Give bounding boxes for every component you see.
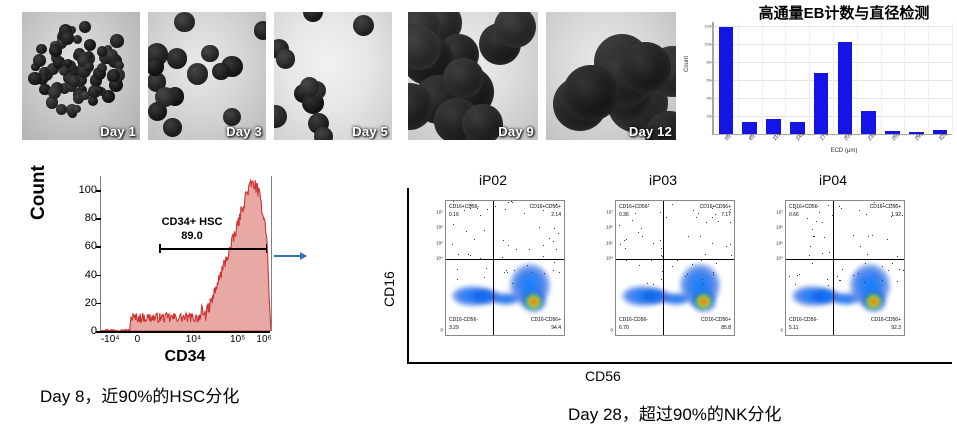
event-dot [625,248,626,249]
event-dot [647,283,648,284]
event-dot [619,225,620,226]
event-dot [902,215,903,216]
embryoid-body [563,65,619,121]
event-dot [837,276,838,277]
quadrant-value: 2.14 [530,212,561,220]
bar-235 [861,111,876,134]
event-dot [514,270,515,271]
embryoid-body [163,118,181,136]
quadrant-upper-right: CD16+CD56+1.92 [870,204,901,219]
micrograph-day-1: Day 1 [22,12,140,140]
event-dot [828,285,829,286]
quadrant-label: CD16+CD56- [619,204,649,212]
micrograph-day-3: Day 3 [148,12,266,140]
event-dot [553,241,554,242]
flow-plot-ip02: 010⁴10⁵10⁶10⁷CD16+CD56-0.16CD16+CD56+2.1… [417,194,569,354]
embryoid-body [276,49,295,68]
event-dot [553,270,554,271]
event-dot [661,248,662,249]
quadrant-label: CD16+CD56- [789,204,819,212]
event-dot [789,276,790,277]
event-dot [687,274,688,275]
flow-plot-ip04: 010⁴10⁵10⁶10⁷CD16+CD56-0.66CD16+CD56+1.9… [757,194,909,354]
event-dot [797,275,798,276]
y-axis-title: CD16 [381,271,397,307]
y-tick-label: 10⁷ [436,209,443,214]
y-tick-label: 40 [85,269,97,281]
event-dot [897,281,898,282]
embryoid-body [64,59,72,67]
embryoid-body [314,127,333,140]
quadrant-upper-right: CD16+CD56+2.14 [530,204,561,219]
plot-frame: CD16+CD56-0.66CD16+CD56+1.92CD16-CD56-5.… [785,200,905,336]
event-dot [701,260,702,261]
event-dot [638,232,639,233]
event-dot [726,246,727,247]
bar-55 [719,27,734,134]
plot-area: 2040608010012055851151451752052352652953… [712,22,952,135]
event-dot [660,240,661,241]
illumination-gradient [274,12,392,140]
event-dot [867,254,868,255]
plot-frame: CD16+CD56-0.16CD16+CD56+2.14CD16-CD56-3.… [445,200,565,336]
x-axis-line [100,331,270,333]
event-dot [840,280,841,281]
group-x-axis [407,362,952,364]
nk-caption: Day 28，超过90%的NK分化 [568,400,782,425]
event-dot [822,253,823,254]
event-dot [696,217,697,218]
y-tick-label: 10⁶ [436,225,443,230]
event-dot [458,254,459,255]
micrograph-day-label: Day 9 [498,124,534,139]
event-dot [653,284,654,285]
event-dot [527,265,528,266]
eb-size-histogram-chart: 高通量EB计数与直径检测 Count ECD (μm) 204060801001… [684,2,956,158]
y-tick-label: 120 [704,24,711,29]
quadrant-horizontal-divider [786,259,904,260]
event-dot [841,208,842,209]
event-dot [853,275,854,276]
event-dot [887,239,888,240]
event-dot [660,212,661,213]
event-dot [503,240,504,241]
embryoid-body [95,86,103,94]
event-dot [812,229,813,230]
embryoid-body [33,54,46,67]
quadrant-label: CD16-CD56+ [701,317,731,325]
y-tick-label: 20 [85,297,97,309]
embryoid-body [97,46,107,56]
event-dot [718,221,719,222]
quadrant-value: 5.11 [789,325,818,333]
plot-area: 020406080100 [100,176,272,331]
quadrant-upper-left: CD16+CD56-0.66 [789,204,819,219]
event-dot [692,264,693,265]
event-dot [688,236,689,237]
x-gridline [809,22,810,134]
x-axis-title: ECD (μm) [734,148,954,154]
x-gridline [738,22,739,134]
event-dot [505,209,506,210]
embryoid-body [107,69,120,82]
pointer-arrow [274,255,306,257]
event-dot [703,284,704,285]
bar-85 [742,122,757,134]
quadrant-label: CD16-CD56+ [531,317,561,325]
group-y-axis [407,188,409,364]
y-tick-label: 10⁶ [606,225,613,230]
embryoid-body [462,104,503,140]
quadrant-value: 0.66 [789,212,819,220]
quadrant-label: CD16+CD56+ [530,204,561,212]
event-dot [457,279,458,280]
quadrant-value: 85.8 [701,325,731,333]
gate-label: CD34+ HSC [132,216,252,228]
quadrant-value: 92.3 [871,325,901,333]
event-dot [860,246,861,247]
event-dot [730,222,731,223]
event-dot [693,210,694,211]
nk-flow-panel-group: CD16 CD56 iP02010⁴10⁵10⁶10⁷CD16+CD56-0.1… [355,172,955,394]
embryoid-body [28,72,42,86]
embryoid-body [72,105,81,114]
gate-marker [159,248,267,250]
y-tick [711,80,714,81]
event-dot [624,240,625,241]
embryoid-body [84,62,94,72]
quadrant-value: 3.29 [449,325,478,333]
event-dot [672,266,673,267]
embryoid-body [212,63,229,80]
event-dot [661,255,662,256]
y-tick-label: 0 [440,327,443,332]
event-dot [865,263,866,264]
event-dot [480,215,481,216]
x-gridline [952,22,953,134]
event-dot [816,221,817,222]
quadrant-horizontal-divider [616,259,734,260]
embryoid-body [254,21,266,39]
event-dot [529,249,530,250]
chart-title: 高通量EB计数与直径检测 [734,2,954,23]
event-dot [543,245,544,246]
event-dot [531,272,532,273]
y-tick-label: 10⁶ [776,225,783,230]
quadrant-value: 6.70 [619,325,648,333]
event-dot [626,260,627,261]
event-dot [868,236,869,237]
micrograph-day-label: Day 3 [226,124,262,139]
y-tick-label: 0 [91,325,97,337]
event-dot [524,213,525,214]
gate-value: 89.0 [132,230,252,242]
y-tick [711,26,714,27]
event-dot [713,274,714,275]
y-tick [711,44,714,45]
event-dot [842,269,843,270]
event-dot [872,235,873,236]
x-tick-label: 10⁵ [230,334,245,345]
bar-205 [838,42,853,134]
x-axis-title: CD56 [585,368,621,384]
embryoid-body [110,34,124,48]
y-axis-title: Count [684,56,690,72]
event-dot [899,269,900,270]
x-gridline [928,22,929,134]
quadrant-label: CD16-CD56+ [871,317,901,325]
y-tick-label: 10⁴ [436,256,443,261]
cd34-histogram-chart: Count CD34 020406080100 CD34+ HSC 89.0 -… [22,168,284,368]
event-dot [512,283,513,284]
event-dot [864,282,865,283]
embryoid-body [36,44,47,55]
event-dot [639,265,640,266]
micrograph-day-label: Day 12 [629,124,672,139]
event-dot [506,270,507,271]
quadrant-value: 94.4 [531,325,561,333]
y-tick-label: 10⁷ [606,209,613,214]
y-axis-title: Count [28,165,50,220]
x-gridline [904,22,905,134]
event-dot [558,233,559,234]
event-dot [457,269,458,270]
event-dot [508,202,509,203]
quadrant-horizontal-divider [446,259,564,260]
event-dot [470,255,471,256]
quadrant-label: CD16+CD56- [449,204,479,212]
event-dot [620,244,621,245]
quadrant-lower-left: CD16-CD56-5.11 [789,317,818,332]
event-dot [799,274,800,275]
embryoid-body [80,91,90,101]
quadrant-lower-right: CD16-CD56+92.3 [871,317,901,332]
quadrant-upper-left: CD16+CD56-0.36 [619,204,649,219]
quadrant-lower-right: CD16-CD56+94.4 [531,317,561,332]
density-core [696,294,711,309]
quadrant-vertical-divider [833,201,834,335]
y-tick-label: 10⁴ [776,256,783,261]
event-dot [672,204,673,205]
event-dot [642,236,643,237]
y-tick-label: 10⁵ [606,240,613,245]
y-tick-label: 80 [85,212,97,224]
quadrant-upper-right: CD16+CD56+7.17 [700,204,731,219]
event-dot [512,202,513,203]
y-tick [711,116,714,117]
event-dot [554,228,555,229]
y-tick-label: 10⁴ [606,256,613,261]
event-dot [809,255,810,256]
event-dot [730,244,731,245]
event-dot [824,237,825,238]
event-dot [716,263,717,264]
micrograph-day-5: Day 5 [274,12,392,140]
x-gridline [857,22,858,134]
event-dot [859,210,860,211]
y-tick-label: 60 [707,78,711,83]
event-dot [466,231,467,232]
plot-frame: CD16+CD56-0.36CD16+CD56+7.17CD16-CD56-6.… [615,200,735,336]
event-dot [828,205,829,206]
y-tick-label: 10⁷ [776,209,783,214]
quadrant-label: CD16-CD56- [789,317,818,325]
y-tick-label: 80 [707,60,711,65]
quadrant-lower-left: CD16-CD56-3.29 [449,317,478,332]
event-dot [819,212,820,213]
y-tick [711,98,714,99]
x-tick-label: 10⁴ [186,334,201,345]
event-dot [651,260,652,261]
event-dot [556,249,557,250]
event-dot [685,276,686,277]
event-dot [495,206,496,207]
event-dot [468,254,469,255]
quadrant-value: 1.92 [870,212,901,220]
quadrant-value: 0.16 [449,212,479,220]
event-dot [822,222,823,223]
embryoid-body [443,58,484,99]
event-dot [508,245,509,246]
histogram-trace [101,176,271,331]
event-dot [814,236,815,237]
hsc-caption: Day 8，近90%的HSC分化 [40,382,239,407]
event-dot [474,239,475,240]
x-gridline [881,22,882,134]
event-dot [641,228,642,229]
density-core [866,294,881,309]
y-tick [711,62,714,63]
event-dot [897,256,898,257]
quadrant-label: CD16-CD56- [449,317,478,325]
y-tick-label: 0 [780,327,783,332]
panel-title-ip03: iP03 [587,172,739,188]
event-dot [810,246,811,247]
y-tick-label: 60 [85,240,97,252]
embryoid-body [167,48,187,68]
panel-title-ip02: iP02 [417,172,569,188]
event-dot [543,256,544,257]
panel-title-ip04: iP04 [757,172,909,188]
quadrant-vertical-divider [493,201,494,335]
event-dot [829,252,830,253]
event-dot [484,230,485,231]
event-dot [453,224,454,225]
quadrant-label: CD16+CD56+ [870,204,901,212]
quadrant-label: CD16-CD56- [619,317,648,325]
micrograph-day-9: Day 9 [408,12,538,140]
event-dot [892,263,893,264]
event-dot [712,243,713,244]
micrograph-day-label: Day 5 [352,124,388,139]
x-gridline [785,22,786,134]
quadrant-lower-left: CD16-CD56-6.70 [619,317,648,332]
event-dot [554,262,555,263]
event-dot [559,272,560,273]
event-dot [487,209,488,210]
event-dot [827,279,828,280]
quadrant-value: 0.36 [619,212,649,220]
y-tick-label: 100 [704,42,711,47]
x-tick-label: 0 [135,334,141,345]
event-dot [858,273,859,274]
event-dot [549,238,550,239]
event-dot [795,284,796,285]
x-tick-label: -10⁴ [101,334,120,345]
event-dot [812,263,813,264]
embryoid-body [353,15,374,36]
event-dot [882,280,883,281]
y-tick-label: 20 [707,114,711,119]
event-dot [903,270,904,271]
embryoid-body [61,31,74,44]
event-dot [544,273,545,274]
histogram-area [101,180,271,331]
event-dot [452,244,453,245]
event-dot [666,217,667,218]
event-dot [507,272,508,273]
event-dot [539,227,540,228]
event-dot [706,222,707,223]
event-dot [731,255,732,256]
quadrant-label: CD16+CD56+ [700,204,731,212]
embryoid-body [79,21,91,33]
event-dot [484,277,485,278]
flow-plot-ip03: 010⁴10⁵10⁶10⁷CD16+CD56-0.36CD16+CD56+7.1… [587,194,739,354]
x-tick-label: 10⁶ [256,334,271,345]
quadrant-vertical-divider [663,201,664,335]
x-gridline [762,22,763,134]
event-dot [677,260,678,261]
event-dot [853,235,854,236]
micrograph-day-12: Day 12 [546,12,676,140]
density-core [526,294,541,309]
event-dot [866,214,867,215]
quadrant-value: 7.17 [700,212,731,220]
event-dot [632,220,633,221]
bar-175 [814,73,829,134]
y-tick-label: 10⁵ [776,240,783,245]
x-gridline [833,22,834,134]
event-dot [705,254,706,255]
y-tick-label: 40 [707,96,711,101]
event-dot [504,272,505,273]
event-dot [702,279,703,280]
x-axis-title: CD34 [100,348,270,366]
embryoid-body [155,87,175,107]
event-dot [653,243,654,244]
event-dot [888,270,889,271]
quadrant-lower-right: CD16-CD56+85.8 [701,317,731,332]
y-tick-label: 100 [79,184,97,196]
event-dot [486,268,487,269]
event-dot [882,266,883,267]
x-tick-label: 55 [724,134,733,143]
y-tick-label: 0 [610,327,613,332]
embryoid-body [620,42,671,93]
y-tick-label: 10⁵ [436,240,443,245]
quadrant-upper-left: CD16+CD56-0.16 [449,204,479,219]
event-dot [700,236,701,237]
event-dot [453,201,454,202]
event-dot [626,239,627,240]
event-dot [516,249,517,250]
micrograph-day-label: Day 1 [100,124,136,139]
